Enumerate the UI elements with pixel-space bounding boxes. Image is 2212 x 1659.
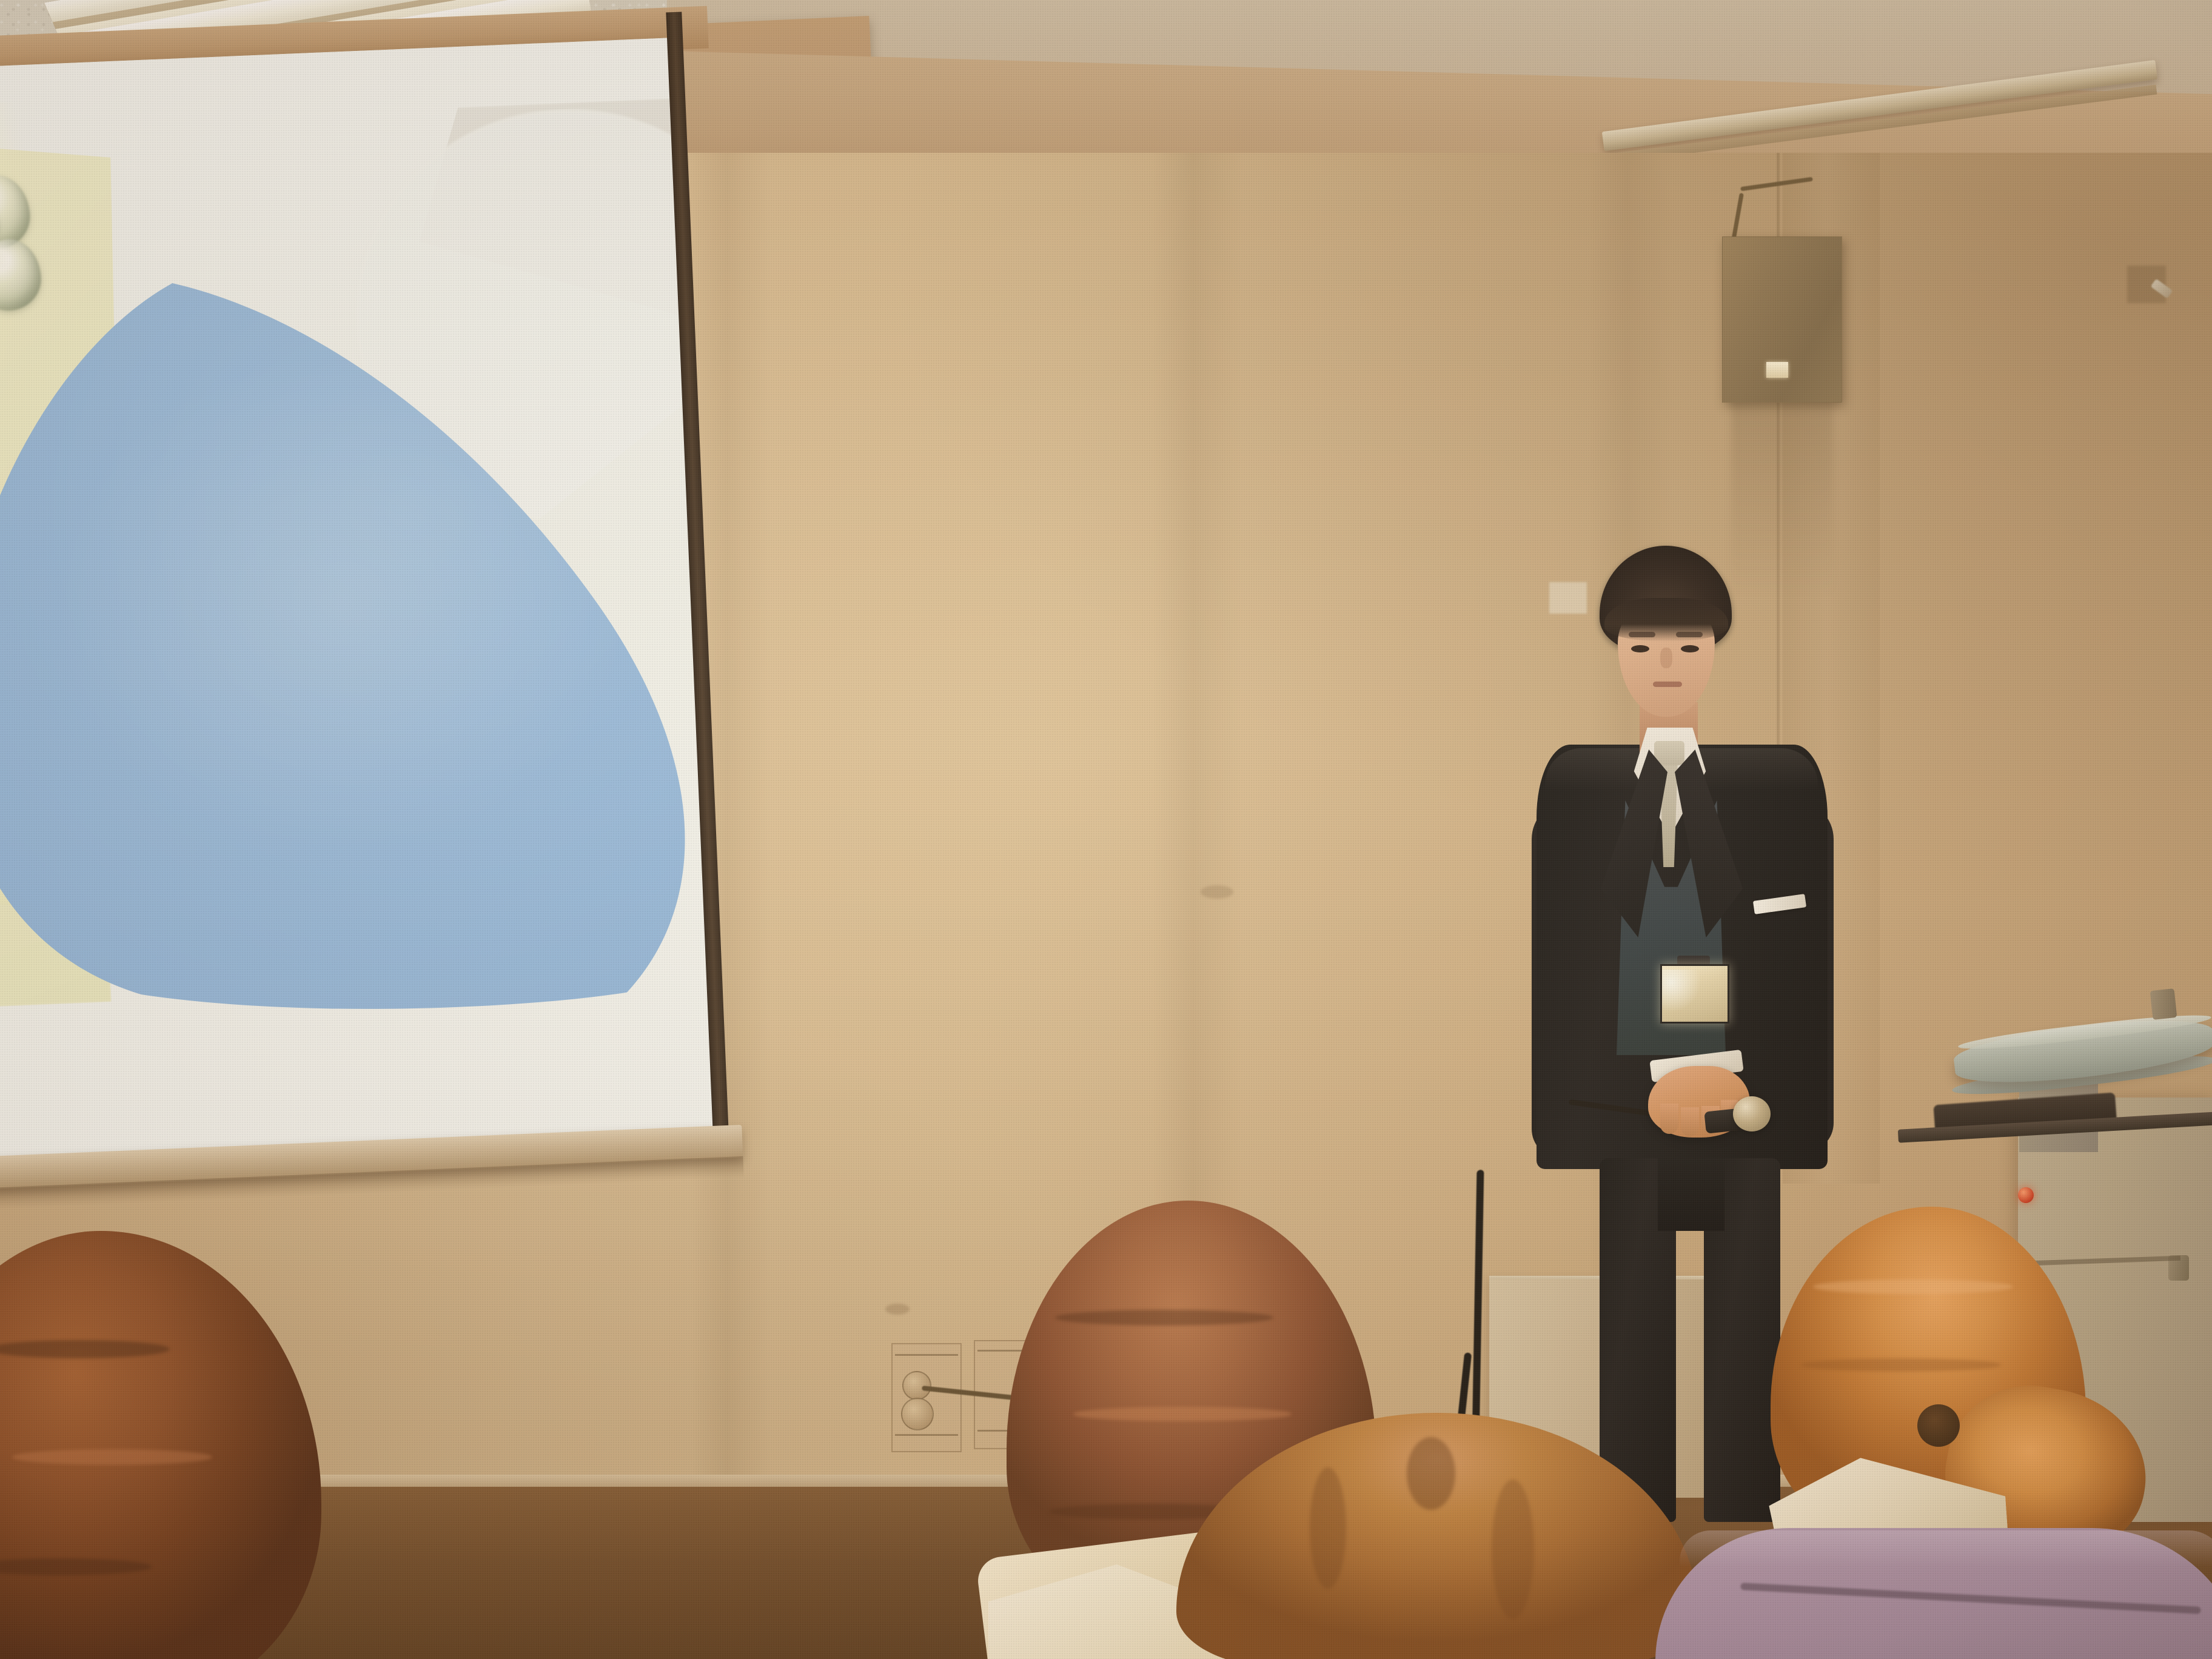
wall-connector-plate[interactable]	[891, 1343, 962, 1452]
attendee-right-hair-tie	[1917, 1404, 1960, 1447]
presenter-eye	[1681, 645, 1699, 652]
speaker-label	[1766, 362, 1788, 378]
presenter-eye	[1631, 645, 1649, 652]
podium-fixing-knob[interactable]	[2150, 988, 2177, 1020]
attendee-right-shoulder-highlight	[1680, 1530, 2212, 1567]
microphone-icon[interactable]	[1733, 1096, 1771, 1131]
screen-surface	[0, 38, 714, 1159]
photograph-conference-presentation	[0, 0, 2212, 1659]
presenter-hair-fringe	[1604, 598, 1728, 642]
presenter-name-badge	[1660, 964, 1729, 1024]
projection-screen	[0, 36, 759, 1269]
attendee-left	[0, 1231, 358, 1659]
projector-flare	[0, 98, 122, 530]
attendee-left-hair	[0, 1231, 321, 1659]
presenter-eyebrow	[1629, 632, 1655, 637]
presenter-badge-glare	[1660, 970, 1701, 1012]
attendee-center	[1176, 1413, 1698, 1659]
podium-power-indicator-led	[2018, 1187, 2034, 1203]
presenter-eyebrow	[1676, 632, 1703, 637]
attendee-right	[1704, 1207, 2212, 1659]
presenter-mouth	[1653, 682, 1682, 687]
wall-mounted-speaker	[1722, 236, 1842, 403]
socket-icon[interactable]	[901, 1398, 934, 1430]
presenter-nose	[1660, 648, 1672, 668]
